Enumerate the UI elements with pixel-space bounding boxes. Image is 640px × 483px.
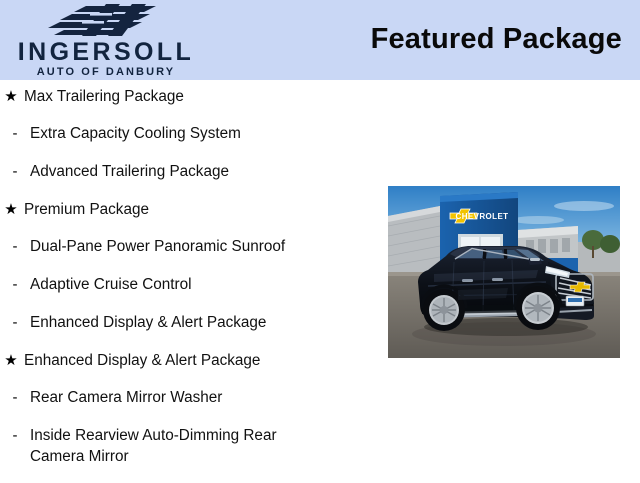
feature-label: Extra Capacity Cooling System — [30, 123, 241, 144]
dash-bullet-icon: - — [0, 274, 30, 295]
page-title: Featured Package — [371, 23, 622, 56]
feature-detail-row: -Advanced Trailering Package — [0, 161, 380, 183]
dash-bullet-icon: - — [0, 161, 30, 182]
feature-detail-row: -Adaptive Cruise Control — [0, 274, 380, 296]
feature-group-row: ★Max Trailering Package — [0, 86, 380, 108]
feature-group-row: ★Premium Package — [0, 199, 380, 221]
svg-text:CHEVROLET: CHEVROLET — [456, 212, 509, 221]
feature-label: Enhanced Display & Alert Package — [22, 350, 260, 371]
feature-label: Dual-Pane Power Panoramic Sunroof — [30, 236, 285, 257]
feature-detail-row: -Enhanced Display & Alert Package — [0, 312, 380, 334]
feature-label: Enhanced Display & Alert Package — [30, 312, 266, 333]
feature-detail-row: -Extra Capacity Cooling System — [0, 123, 380, 145]
feature-label: Inside Rearview Auto-Dimming Rear Camera… — [30, 425, 277, 467]
feature-detail-row: -Inside Rearview Auto-Dimming Rear Camer… — [0, 425, 380, 467]
vehicle-photo: CHEVROLET — [388, 186, 620, 358]
dash-bullet-icon: - — [0, 425, 30, 446]
dash-bullet-icon: - — [0, 123, 30, 144]
star-bullet-icon: ★ — [0, 350, 22, 371]
dash-bullet-icon: - — [0, 387, 30, 408]
feature-label: Adaptive Cruise Control — [30, 274, 192, 295]
star-bullet-icon: ★ — [0, 199, 22, 220]
feature-group-row: ★Enhanced Display & Alert Package — [0, 350, 380, 372]
feature-detail-row: -Dual-Pane Power Panoramic Sunroof — [0, 236, 380, 258]
logo-wordmark: INGERSOLL — [6, 38, 206, 66]
dealer-logo: INGERSOLL AUTO OF DANBURY — [6, 2, 206, 78]
star-bullet-icon: ★ — [0, 86, 22, 107]
feature-detail-row: -Rear Camera Mirror Washer — [0, 387, 380, 409]
logo-tagline: AUTO OF DANBURY — [6, 66, 206, 78]
feature-list: ★Max Trailering Package-Extra Capacity C… — [0, 86, 380, 483]
feature-label: Max Trailering Package — [22, 86, 184, 107]
dash-bullet-icon: - — [0, 312, 30, 333]
dash-bullet-icon: - — [0, 236, 30, 257]
feature-label: Premium Package — [22, 199, 149, 220]
feature-label: Rear Camera Mirror Washer — [30, 387, 222, 408]
feature-label: Advanced Trailering Package — [30, 161, 229, 182]
ingersoll-wing-emblem — [46, 3, 176, 37]
